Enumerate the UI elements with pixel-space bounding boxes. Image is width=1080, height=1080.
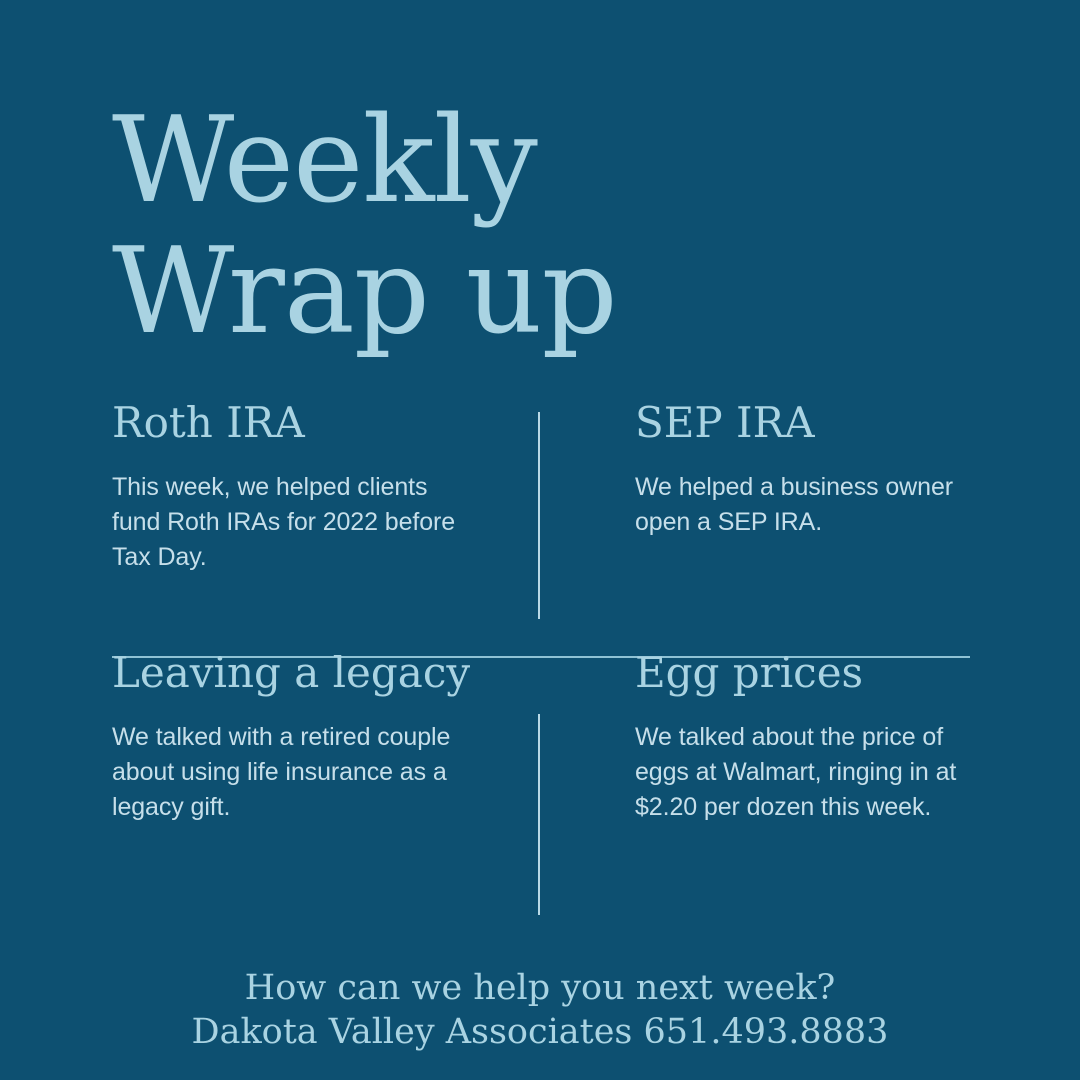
page-title-line-2: Wrap up [112, 227, 932, 358]
footer-contact: Dakota Valley Associates 651.493.8883 [0, 1010, 1080, 1054]
summary-card-leaving-a-legacy: Leaving a legacy We talked with a retire… [0, 648, 539, 883]
page-title-line-1: Weekly [112, 96, 932, 227]
summary-card-heading: Roth IRA [112, 398, 479, 448]
summary-card-sep-ira: SEP IRA We helped a business owner open … [539, 398, 1080, 648]
summary-card-body: We helped a business owner open a SEP IR… [635, 470, 1000, 540]
footer: How can we help you next week? Dakota Va… [0, 966, 1080, 1054]
summary-card-heading: Egg prices [635, 648, 1000, 698]
summary-card-body: We talked with a retired couple about us… [112, 720, 479, 825]
summary-card-egg-prices: Egg prices We talked about the price of … [539, 648, 1080, 883]
page-title: Weekly Wrap up [112, 96, 932, 358]
weekly-wrap-up-poster: Weekly Wrap up Roth IRA This week, we he… [0, 0, 1080, 1080]
summary-row-bottom: Leaving a legacy We talked with a retire… [0, 648, 1080, 883]
summary-card-roth-ira: Roth IRA This week, we helped clients fu… [0, 398, 539, 648]
summary-card-heading: Leaving a legacy [112, 648, 479, 698]
summary-row-top: Roth IRA This week, we helped clients fu… [0, 398, 1080, 648]
summary-grid: Roth IRA This week, we helped clients fu… [0, 398, 1080, 883]
summary-card-body: This week, we helped clients fund Roth I… [112, 470, 479, 575]
summary-card-body: We talked about the price of eggs at Wal… [635, 720, 1000, 825]
footer-question: How can we help you next week? [0, 966, 1080, 1010]
summary-card-heading: SEP IRA [635, 398, 1000, 448]
